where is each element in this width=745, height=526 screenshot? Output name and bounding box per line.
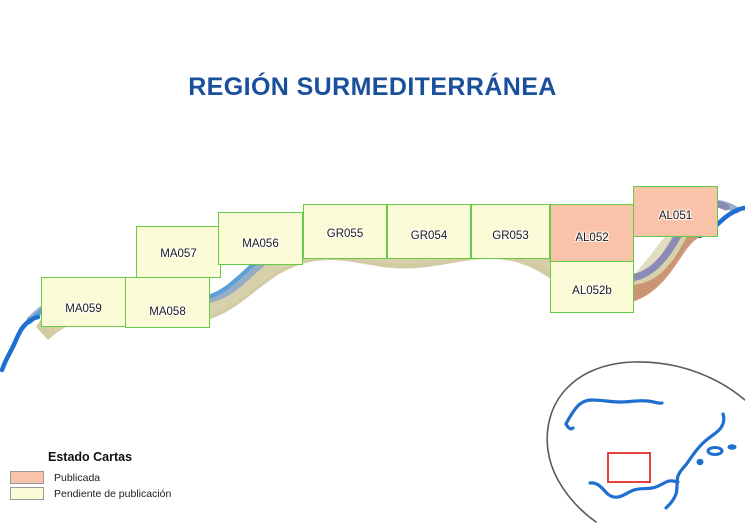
legend-label: Pendiente de publicación (54, 488, 171, 500)
chart-tile-label: AL052b (551, 285, 633, 297)
chart-tile-label: MA058 (126, 306, 209, 318)
locator-inset (540, 358, 745, 526)
legend-swatch-pending (10, 487, 44, 500)
chart-tile-label: AL052 (551, 232, 633, 244)
map-page: REGIÓN SURMEDITERRÁNEA MA059 MA058 MA057… (0, 0, 745, 526)
inset-river-east (666, 414, 724, 508)
chart-tile-label: GR055 (304, 228, 386, 240)
legend-item-publicada: Publicada (10, 471, 240, 484)
chart-tile-label: MA056 (219, 238, 302, 250)
inset-island-1 (697, 459, 704, 465)
chart-tile-ma059[interactable]: MA059 (41, 277, 126, 327)
legend-item-pendiente: Pendiente de publicación (10, 487, 240, 500)
inset-river-north-tail (566, 424, 573, 429)
locator-box (608, 453, 650, 482)
chart-tile-al052[interactable]: AL052 (550, 204, 634, 262)
chart-tile-gr055[interactable]: GR055 (303, 204, 387, 259)
inset-river-south (590, 481, 678, 497)
chart-tile-label: MA059 (42, 303, 125, 315)
inset-island-2 (708, 448, 722, 455)
legend-label: Publicada (54, 472, 100, 484)
chart-tile-ma056[interactable]: MA056 (218, 212, 303, 265)
chart-tile-gr053[interactable]: GR053 (471, 204, 550, 259)
legend-title: Estado Cartas (48, 450, 240, 464)
legend-swatch-published (10, 471, 44, 484)
inset-country-outline (547, 362, 745, 522)
chart-tile-al052b[interactable]: AL052b (550, 261, 634, 313)
chart-tile-gr054[interactable]: GR054 (387, 204, 471, 259)
legend: Estado Cartas Publicada Pendiente de pub… (10, 450, 240, 503)
chart-tile-ma057[interactable]: MA057 (136, 226, 221, 278)
chart-tile-label: GR054 (388, 230, 470, 242)
chart-tile-label: MA057 (137, 248, 220, 260)
chart-tile-al051[interactable]: AL051 (633, 186, 718, 237)
inset-island-3 (728, 444, 737, 450)
chart-tile-label: GR053 (472, 230, 549, 242)
river-inflow-left (2, 317, 38, 370)
inset-river-north (566, 400, 662, 424)
chart-tile-label: AL051 (634, 210, 717, 222)
chart-tile-ma058[interactable]: MA058 (125, 277, 210, 328)
page-title: REGIÓN SURMEDITERRÁNEA (0, 73, 745, 102)
